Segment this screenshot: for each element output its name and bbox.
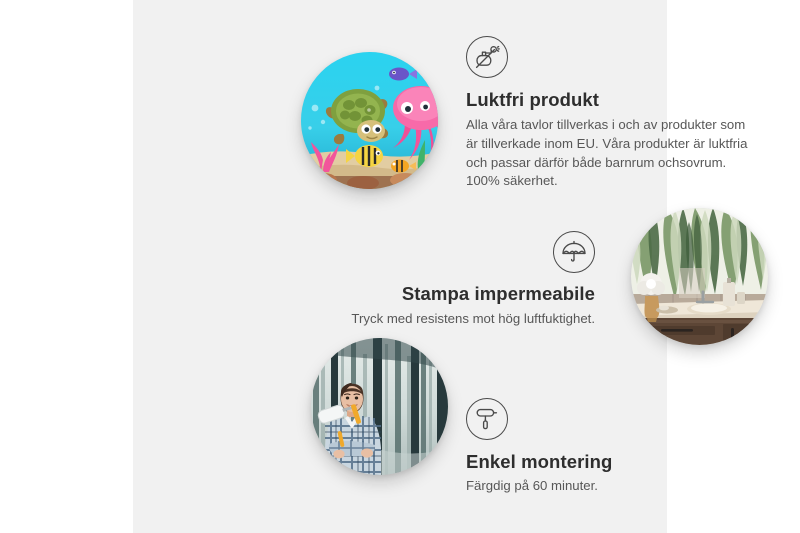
umbrella-icon <box>553 231 595 273</box>
photo-forest-mural-painter <box>311 338 448 475</box>
feature-easy-mounting: Enkel montering Färgdig på 60 minuter. <box>466 398 756 496</box>
feature-title: Stampa impermeabile <box>333 282 595 305</box>
photo-ocean-mural <box>301 52 438 189</box>
feature-waterproof: Stampa impermeabile Tryck med resistens … <box>333 231 595 329</box>
feature-description: Färgdig på 60 minuter. <box>466 477 756 496</box>
content-panel: Luktfri produkt Alla våra tavlor tillver… <box>133 0 667 533</box>
no-fragrance-spray-icon <box>466 36 508 78</box>
feature-description: Alla våra tavlor tillverkas i och av pro… <box>466 116 756 191</box>
feature-title: Luktfri produkt <box>466 88 756 111</box>
feature-odour-free: Luktfri produkt Alla våra tavlor tillver… <box>466 36 756 191</box>
paint-roller-icon <box>466 398 508 440</box>
feature-title: Enkel montering <box>466 450 756 473</box>
feature-description: Tryck med resistens mot hög luftfuktighe… <box>333 310 595 329</box>
photo-bathroom-palm-wallpaper <box>631 208 768 345</box>
promo-feature-graphic: Luktfri produkt Alla våra tavlor tillver… <box>0 0 800 533</box>
